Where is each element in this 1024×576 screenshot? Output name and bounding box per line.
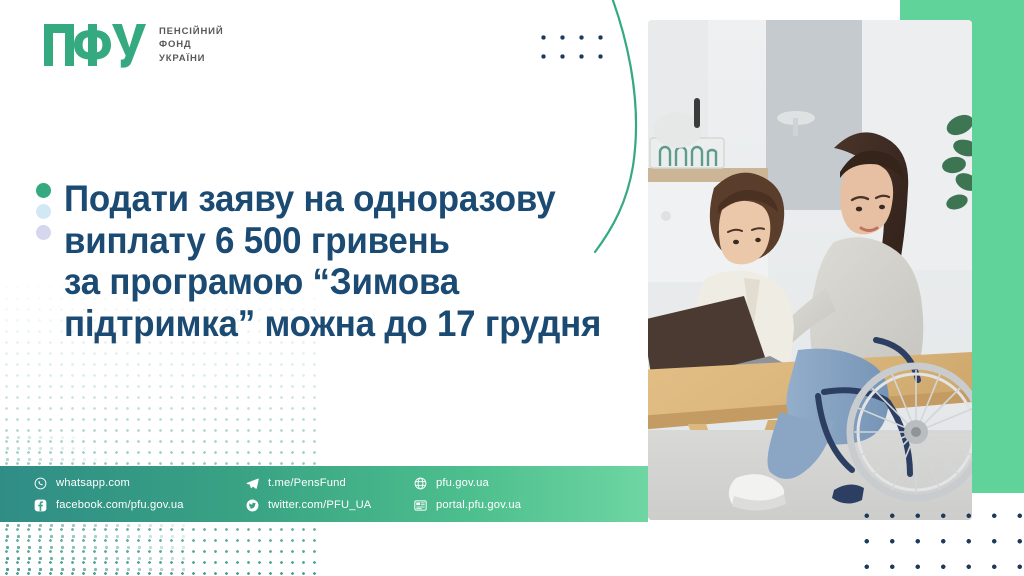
footer-link-label: pfu.gov.ua bbox=[436, 477, 489, 489]
dot-grid-top bbox=[532, 26, 616, 70]
pfu-logo-icon bbox=[44, 22, 148, 68]
globe-icon bbox=[414, 477, 427, 490]
logo-line-1: ПЕНСІЙНИЙ bbox=[159, 26, 224, 37]
logo-line-2: ФОНД bbox=[159, 39, 224, 50]
pfu-logo[interactable]: ПЕНСІЙНИЙ ФОНД УКРАЇНИ bbox=[44, 22, 224, 68]
contact-footer: whatsapp.com facebook.com/pfu.gov.ua bbox=[0, 466, 648, 522]
footer-link-label: whatsapp.com bbox=[56, 477, 130, 489]
telegram-icon bbox=[246, 477, 259, 490]
headline-bullets bbox=[36, 183, 51, 240]
whatsapp-icon bbox=[34, 477, 47, 490]
dot-grid-bottom-right bbox=[851, 500, 1024, 572]
footer-link-portal[interactable]: portal.pfu.gov.ua bbox=[414, 499, 521, 512]
pfu-logo-wordmark: ПЕНСІЙНИЙ ФОНД УКРАЇНИ bbox=[159, 26, 224, 64]
footer-link-label: portal.pfu.gov.ua bbox=[436, 499, 521, 511]
footer-link-label: twitter.com/PFU_UA bbox=[268, 499, 371, 511]
footer-link-facebook[interactable]: facebook.com/pfu.gov.ua bbox=[34, 499, 246, 512]
footer-link-twitter[interactable]: twitter.com/PFU_UA bbox=[246, 499, 414, 512]
poster-canvas: ПЕНСІЙНИЙ ФОНД УКРАЇНИ Подати заяву на о… bbox=[0, 0, 1024, 576]
footer-link-label: facebook.com/pfu.gov.ua bbox=[56, 499, 184, 511]
family-laptop-photo bbox=[648, 20, 972, 520]
headline-block: Подати заяву на одноразову виплату 6 500… bbox=[64, 178, 644, 344]
portal-icon bbox=[414, 499, 427, 512]
footer-column-web: pfu.gov.ua portal.pfu.gov.ua bbox=[414, 477, 521, 512]
footer-link-whatsapp[interactable]: whatsapp.com bbox=[34, 477, 246, 490]
page-title: Подати заяву на одноразову виплату 6 500… bbox=[64, 178, 603, 344]
bullet-lavender bbox=[36, 225, 51, 240]
facebook-icon bbox=[34, 499, 47, 512]
footer-column-social: whatsapp.com facebook.com/pfu.gov.ua bbox=[34, 477, 246, 512]
twitter-icon bbox=[246, 499, 259, 512]
footer-column-messengers: t.me/PensFund twitter.com/PFU_UA bbox=[246, 477, 414, 512]
footer-link-label: t.me/PensFund bbox=[268, 477, 346, 489]
footer-link-website[interactable]: pfu.gov.ua bbox=[414, 477, 521, 490]
logo-line-3: УКРАЇНИ bbox=[159, 53, 224, 64]
bullet-blue bbox=[36, 204, 51, 219]
footer-link-telegram[interactable]: t.me/PensFund bbox=[246, 477, 414, 490]
bullet-green bbox=[36, 183, 51, 198]
